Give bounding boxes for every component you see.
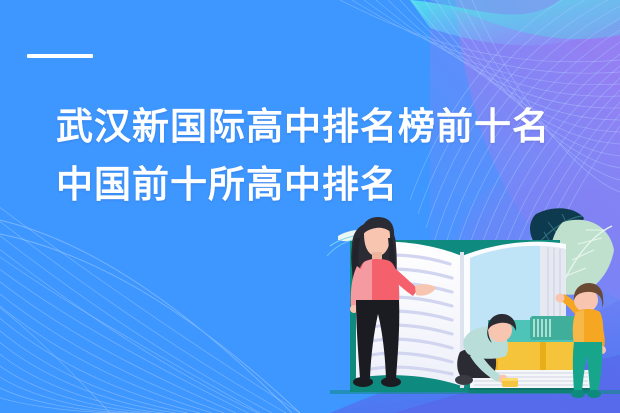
headline-line-1: 武汉新国际高中排名榜前十名 bbox=[56, 98, 596, 156]
headline-line-2: 中国前十所高中排名 bbox=[56, 156, 596, 214]
page-title: 武汉新国际高中排名榜前十名 中国前十所高中排名 bbox=[56, 98, 596, 214]
banner-image: 武汉新国际高中排名榜前十名 中国前十所高中排名 bbox=[0, 0, 620, 413]
accent-bar bbox=[27, 54, 93, 58]
